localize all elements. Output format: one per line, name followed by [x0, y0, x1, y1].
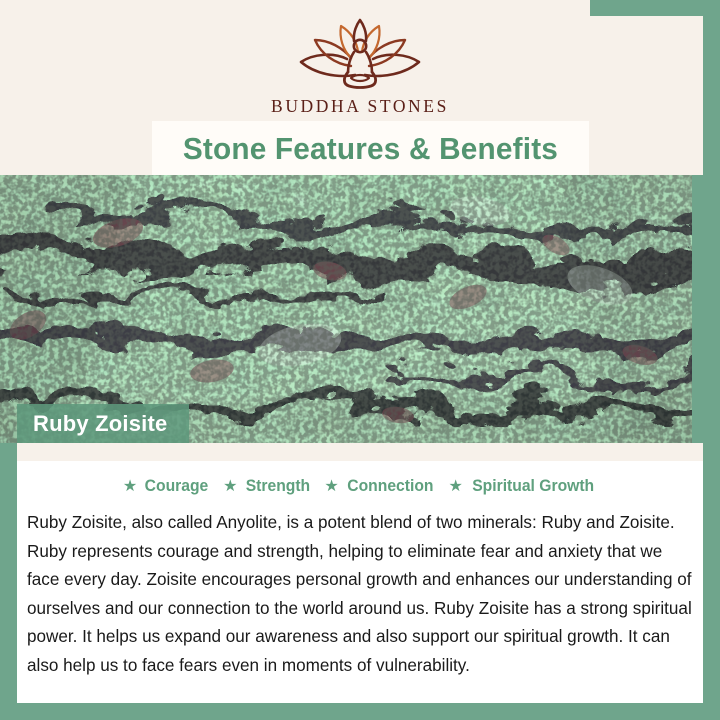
benefit-item-connection: ★ Connection — [324, 477, 435, 496]
star-icon: ★ — [448, 479, 462, 495]
frame-left-lower — [0, 443, 17, 720]
content-panel: ★ Courage ★ Strength ★ Connection ★ Spir… — [17, 443, 703, 703]
benefits-row: ★ Courage ★ Strength ★ Connection ★ Spir… — [17, 477, 703, 496]
page-title: Stone Features & Benefits — [183, 131, 558, 167]
description-text: Ruby Zoisite, also called Anyolite, is a… — [27, 508, 696, 679]
panel-top-tint — [17, 443, 703, 461]
benefit-label: Strength — [245, 477, 309, 496]
benefit-label: Courage — [145, 477, 209, 496]
benefit-item-strength: ★ Strength — [223, 477, 311, 496]
frame-right — [703, 0, 720, 720]
benefit-label: Connection — [347, 477, 433, 496]
frame-top-right — [590, 0, 720, 16]
stone-info-card: BUDDHA STONES Stone Features & Benefits — [0, 0, 720, 720]
stone-name-label: Ruby Zoisite — [17, 404, 189, 443]
benefit-label: Spiritual Growth — [472, 477, 594, 496]
lotus-meditation-icon — [285, 18, 435, 92]
star-icon: ★ — [324, 479, 338, 495]
stone-name-text: Ruby Zoisite — [33, 411, 167, 437]
title-band: Stone Features & Benefits — [152, 121, 589, 177]
star-icon: ★ — [223, 479, 237, 495]
frame-bottom — [0, 703, 720, 720]
brand-logo: BUDDHA STONES — [0, 18, 720, 118]
benefit-item-courage: ★ Courage — [123, 477, 210, 496]
brand-name: BUDDHA STONES — [271, 96, 449, 117]
star-icon: ★ — [123, 479, 137, 495]
benefit-item-spiritual-growth: ★ Spiritual Growth — [448, 477, 597, 496]
